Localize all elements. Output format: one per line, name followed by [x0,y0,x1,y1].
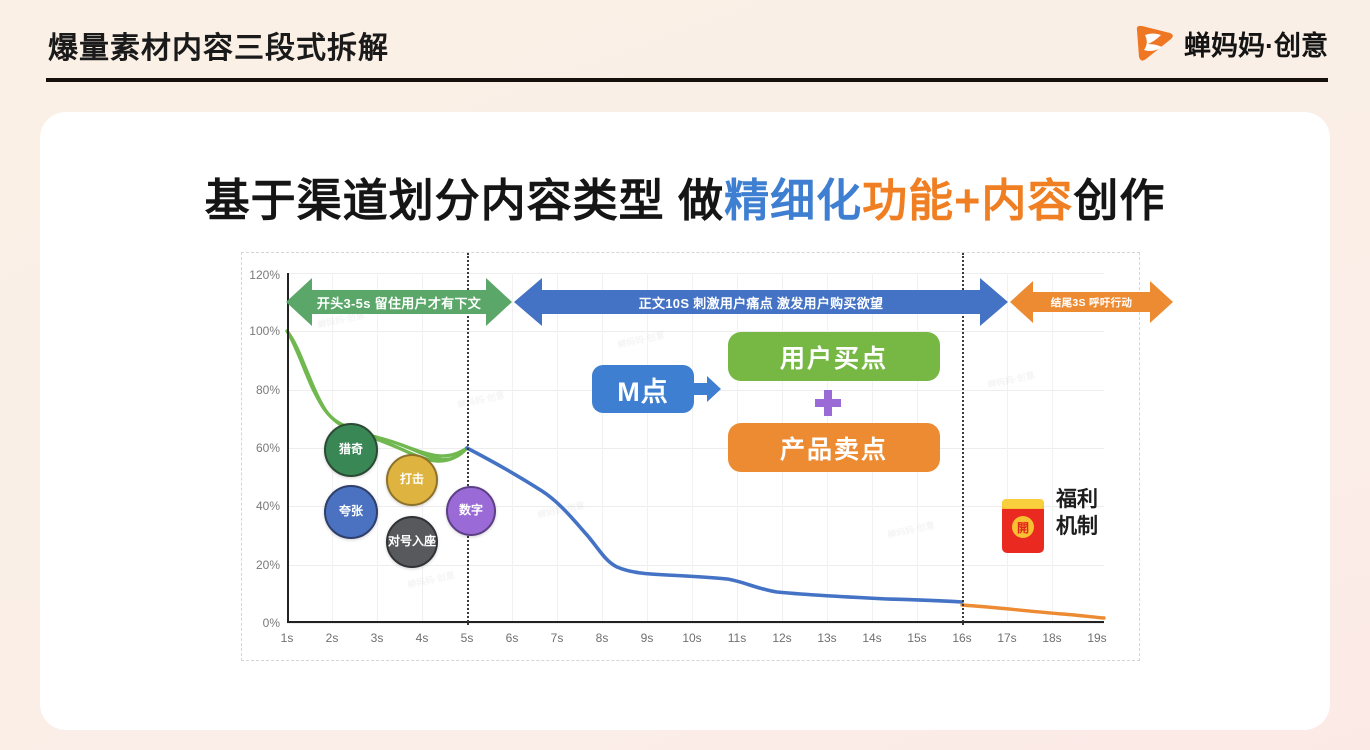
bubble-label: 打击 [400,473,424,486]
phase-arrow-band: 开头3-5s 留住用户才有下文 正文10S 刺激用户痛点 激发用户购买欲望 结尾… [241,275,1140,329]
x-tick-3s: 3s [371,631,384,645]
headline-part-2: 精细化 [724,175,862,226]
headline-part-3: 功能+内容 [862,175,1073,226]
welfare-label: 福利 机制 [1056,487,1098,541]
red-packet-icon: 開 [1000,491,1046,555]
header-divider [46,78,1328,82]
gridline-0 [287,623,1104,624]
y-tick-20: 20% [256,558,280,572]
page-header: 爆量素材内容三段式拆解 蝉妈妈·创意 [0,0,1370,92]
x-tick-1s: 1s [281,631,294,645]
bubble-shuzi[interactable]: 数字 [446,486,496,536]
welfare-line-2: 机制 [1056,514,1098,541]
x-tick-10s: 10s [682,631,701,645]
arrow-right-icon [691,376,721,402]
phase-arrow-label: 结尾3S 呼吁行动 [1051,295,1132,310]
x-tick-4s: 4s [416,631,429,645]
phase-arrow-label: 正文10S 刺激用户痛点 激发用户购买欲望 [639,293,884,312]
svg-text:開: 開 [1017,521,1029,535]
y-tick-0: 0% [263,616,280,630]
welfare-line-1: 福利 [1056,487,1098,514]
logo-text: 蝉妈妈·创意 [1184,24,1328,63]
cicada-logo-icon [1133,22,1175,64]
sell-point-label: 产品卖点 [780,430,888,466]
phase-arrow-opening[interactable]: 开头3-5s 留住用户才有下文 [286,275,512,329]
x-tick-11s: 11s [728,631,746,645]
x-tick-17s: 17s [997,631,1016,645]
bubble-label: 夸张 [339,505,363,518]
buy-point-box[interactable]: 用户买点 [728,332,940,381]
x-axis [287,621,1104,623]
y-tick-60: 60% [256,441,280,455]
bubble-lieqi[interactable]: 猎奇 [324,423,378,477]
x-tick-7s: 7s [551,631,564,645]
x-tick-16s: 16s [952,631,971,645]
headline: 基于渠道划分内容类型 做精细化功能+内容创作 [40,164,1330,229]
plus-icon [815,390,841,416]
bubble-label: 猎奇 [339,443,363,456]
phase-arrow-label: 开头3-5s 留住用户才有下文 [317,293,481,312]
x-tick-15s: 15s [907,631,926,645]
headline-part-1: 基于渠道划分内容类型 做 [205,175,725,226]
x-tick-13s: 13s [817,631,836,645]
bubble-daji[interactable]: 打击 [386,454,438,506]
bubble-label: 对号入座 [388,535,436,548]
x-tick-9s: 9s [641,631,654,645]
phase-arrow-ending[interactable]: 结尾3S 呼吁行动 [1010,275,1173,329]
x-tick-5s: 5s [461,631,474,645]
y-tick-40: 40% [256,499,280,513]
bubble-label: 数字 [459,504,483,517]
x-tick-8s: 8s [596,631,609,645]
content-card: 基于渠道划分内容类型 做精细化功能+内容创作 [40,112,1330,730]
bubble-kuazhang[interactable]: 夸张 [324,485,378,539]
sell-point-box[interactable]: 产品卖点 [728,423,940,472]
m-point-label: M点 [617,370,669,409]
x-tick-19s: 19s [1087,631,1106,645]
m-point-box[interactable]: M点 [592,365,694,413]
buy-point-label: 用户买点 [780,339,888,375]
phase-arrow-body[interactable]: 正文10S 刺激用户痛点 激发用户购买欲望 [514,275,1008,329]
x-tick-2s: 2s [326,631,339,645]
x-tick-12s: 12s [772,631,791,645]
series-orange-line [962,605,1104,618]
bubble-duihaoruzuo[interactable]: 对号入座 [386,516,438,568]
x-tick-14s: 14s [862,631,881,645]
y-tick-80: 80% [256,383,280,397]
series-green-main [287,331,467,461]
brand-logo: 蝉妈妈·创意 [1133,22,1328,64]
x-tick-6s: 6s [506,631,519,645]
page-title: 爆量素材内容三段式拆解 [48,23,389,67]
x-tick-18s: 18s [1042,631,1061,645]
headline-part-4: 创作 [1073,175,1165,226]
